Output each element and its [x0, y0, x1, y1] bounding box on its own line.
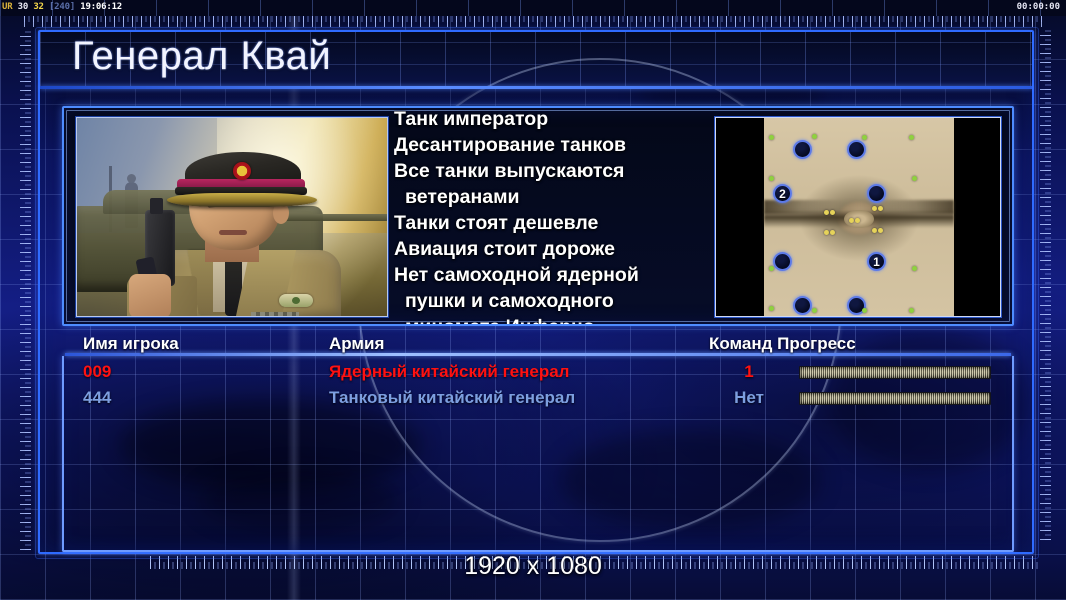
- description-line: пушки и самоходного: [394, 288, 692, 314]
- player-list-rows: 009Ядерный китайский генерал1444Танковый…: [64, 360, 1012, 412]
- game-lobby-screen: UR 30 32 [240] 19:06:12 00:00:00 Генерал…: [0, 0, 1066, 600]
- player-list-header: Имя игрока Армия Команд Прогресс: [62, 334, 1014, 356]
- map-oil-marker: [824, 210, 829, 215]
- map-resource-marker: [812, 134, 817, 139]
- portrait-peaked-cap: [167, 152, 309, 204]
- map-resource-marker: [769, 266, 774, 271]
- portrait-hand: [129, 274, 171, 317]
- fps-value-2: 32: [33, 2, 43, 12]
- map-resource-marker: [912, 176, 917, 181]
- map-oil-marker: [878, 228, 883, 233]
- general-info-panel: Танк императорДесантирование танковВсе т…: [62, 106, 1014, 326]
- description-line: Авиация стоит дороже: [394, 236, 692, 262]
- map-terrain: 21: [764, 118, 954, 317]
- player-name: 444: [83, 388, 111, 408]
- table-row[interactable]: 009Ядерный китайский генерал1: [64, 360, 1012, 386]
- map-start-label: 1: [869, 254, 884, 269]
- session-time: 19:06:12: [80, 2, 122, 12]
- map-oil-marker: [872, 228, 877, 233]
- top-status-bar: UR 30 32 [240] 19:06:12 00:00:00: [0, 0, 1066, 16]
- map-oil-marker: [872, 206, 877, 211]
- map-resource-marker: [912, 266, 917, 271]
- fps-value-1: 30: [18, 2, 28, 12]
- map-oil-marker: [830, 210, 835, 215]
- map-resource-marker: [909, 308, 914, 313]
- map-start-label: 2: [775, 186, 790, 201]
- game-clock: 00:00:00: [1017, 1, 1060, 13]
- description-line: миномета Инферно: [394, 314, 692, 326]
- map-start-position: [793, 296, 812, 315]
- portrait-wing-badge: [279, 294, 313, 307]
- map-resource-marker: [862, 135, 867, 140]
- map-start-position: 1: [867, 252, 886, 271]
- description-line: Все танки выпускаются: [394, 158, 692, 184]
- map-start-position: [847, 140, 866, 159]
- map-resource-marker: [862, 308, 867, 313]
- description-line: Нет самоходной ядерной: [394, 262, 692, 288]
- player-progress-bar: [799, 392, 991, 405]
- title-underline: [40, 86, 1032, 89]
- player-team: Нет: [729, 388, 769, 408]
- ruler-left: [16, 30, 31, 550]
- general-description: Танк императорДесантирование танковВсе т…: [394, 106, 692, 326]
- map-resource-marker: [812, 308, 817, 313]
- status-bar-grid: [0, 0, 1066, 16]
- map-oil-marker: [849, 218, 854, 223]
- portrait-mouth: [219, 230, 247, 235]
- player-name: 009: [83, 362, 111, 382]
- player-army: Ядерный китайский генерал: [329, 362, 569, 382]
- table-row[interactable]: 444Танковый китайский генералНет: [64, 386, 1012, 412]
- portrait-general-figure: [127, 146, 353, 317]
- fps-label: UR: [2, 2, 12, 12]
- map-oil-marker: [824, 230, 829, 235]
- general-portrait-image: [76, 117, 388, 317]
- map-start-position: 2: [773, 184, 792, 203]
- map-resource-marker: [909, 135, 914, 140]
- description-line: ветеранами: [394, 184, 692, 210]
- player-team: 1: [729, 362, 769, 382]
- map-resource-marker: [769, 306, 774, 311]
- map-resource-marker: [769, 135, 774, 140]
- map-start-position: [793, 140, 812, 159]
- map-oil-marker: [830, 230, 835, 235]
- column-header-team: Команд Прогресс: [709, 334, 856, 354]
- ruler-right: [1036, 30, 1051, 540]
- portrait-medal-ribbons: [251, 312, 299, 317]
- map-preview[interactable]: 21: [715, 117, 1001, 317]
- map-oil-marker: [855, 218, 860, 223]
- portrait-cap-emblem: [233, 162, 251, 180]
- map-start-position: [773, 252, 792, 271]
- fps-value-3: [240]: [49, 2, 75, 12]
- description-line: Десантирование танков: [394, 132, 692, 158]
- map-oil-marker: [878, 206, 883, 211]
- column-header-name: Имя игрока: [83, 334, 179, 354]
- player-progress-bar: [799, 366, 991, 379]
- page-title: Генерал Квай: [72, 34, 331, 79]
- portrait-cap-brim: [167, 193, 317, 207]
- description-line: Танк император: [394, 106, 692, 132]
- column-header-army: Армия: [329, 334, 384, 354]
- resolution-label: 1920 x 1080: [0, 552, 1066, 581]
- map-start-position: [867, 184, 886, 203]
- fps-counter: UR 30 32 [240] 19:06:12: [2, 1, 122, 13]
- map-resource-marker: [769, 176, 774, 181]
- player-army: Танковый китайский генерал: [329, 388, 575, 408]
- description-line: Танки стоят дешевле: [394, 210, 692, 236]
- ruler-top: [24, 16, 1042, 31]
